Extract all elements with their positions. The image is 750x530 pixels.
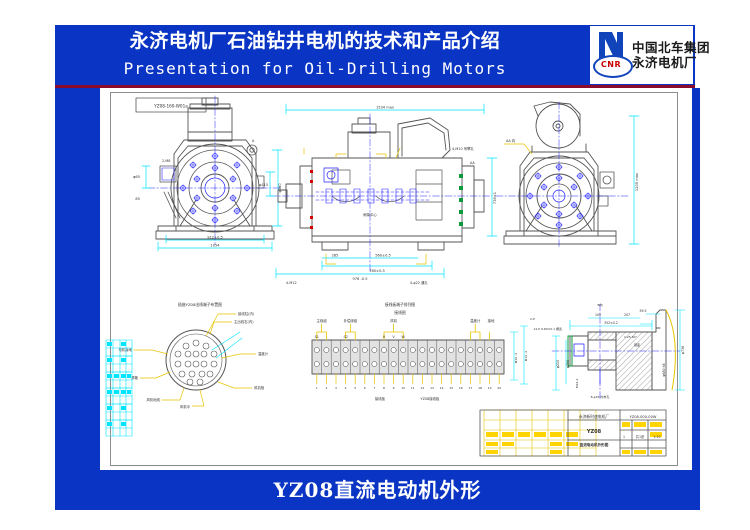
company-logo: CNR 中国北车集团 永济电机厂 xyxy=(590,26,693,84)
svg-text:285: 285 xyxy=(332,254,339,258)
svg-text:插座YZ08出线端子布置图: 插座YZ08出线端子布置图 xyxy=(178,302,222,307)
presentation-slide: 永济电机厂石油钻井电机的技术和产品介绍 Presentation for Oil… xyxy=(0,0,750,530)
svg-text:352±0.2: 352±0.2 xyxy=(604,321,618,325)
svg-text:13: 13 xyxy=(430,386,434,390)
svg-text:4: 4 xyxy=(345,386,347,390)
slide-footer-title: YZ08直流电动机外形 xyxy=(55,472,700,508)
view-connector-pinout: 插座YZ08出线端子布置图 xyxy=(118,302,268,409)
svg-text:1:10: 1:10 xyxy=(653,435,660,439)
view-terminal-block: 接线板端子排列图 接线图 xyxy=(312,302,535,401)
svg-text:2-P: 2-P xyxy=(530,317,535,321)
svg-text:780±0.5: 780±0.5 xyxy=(369,269,385,273)
svg-text:接线板端子排列图: 接线板端子排列图 xyxy=(385,302,416,307)
svg-text:φ736: φ736 xyxy=(681,346,685,354)
svg-text:接地: 接地 xyxy=(488,318,495,323)
svg-text:85: 85 xyxy=(135,197,140,201)
left-blue-rail xyxy=(55,88,100,470)
connector-pins xyxy=(175,340,217,385)
terminal-box-left-view xyxy=(188,98,232,141)
svg-text:1054: 1054 xyxy=(210,244,220,248)
cad-drawing-svg: YZ08-160-W01a xyxy=(100,88,692,470)
svg-text:U: U xyxy=(383,335,386,339)
logo-line-factory: 永济电机厂 xyxy=(632,55,710,70)
svg-text:17: 17 xyxy=(468,386,472,390)
svg-text:钢座: 钢座 xyxy=(634,342,640,347)
svg-text:59.5: 59.5 xyxy=(639,309,646,313)
svg-text:16: 16 xyxy=(459,386,463,390)
svg-text:YZ08-160-W01a: YZ08-160-W01a xyxy=(153,104,188,109)
header-title-english: Presentation for Oil-Drilling Motors xyxy=(60,56,570,82)
svg-text:1205 max: 1205 max xyxy=(635,172,639,191)
svg-text:976 -0.5: 976 -0.5 xyxy=(352,277,367,281)
svg-text:S2: S2 xyxy=(343,335,347,339)
svg-text:YZ08接线板: YZ08接线板 xyxy=(421,396,440,401)
view-left-elevation: 1054 912±0.5 φ680 φ65 85 2-M8 A xyxy=(133,96,282,251)
svg-text:1: 1 xyxy=(316,386,318,390)
svg-text:YZ08-000-00W: YZ08-000-00W xyxy=(630,415,657,419)
svg-text:1:25 60°: 1:25 60° xyxy=(624,335,638,339)
svg-text:7: 7 xyxy=(373,386,375,390)
svg-text:M20 -4: M20 -4 xyxy=(514,353,518,363)
drawing-title-block: 永济新时速电机厂 YZ08-000-00W YZ08 直流电动机外形图 1 共1… xyxy=(480,410,666,456)
svg-text:共1张: 共1张 xyxy=(636,434,645,439)
header-title-chinese: 永济电机厂石油钻井电机的技术和产品介绍 xyxy=(60,28,570,55)
svg-text:10: 10 xyxy=(401,386,405,390)
svg-text:温度计: 温度计 xyxy=(258,351,269,356)
logo-line-group: 中国北车集团 xyxy=(632,40,710,55)
svg-text:φ215: φ215 xyxy=(556,360,560,368)
svg-text:12-P 6.80±0.1 槽宽: 12-P 6.80±0.1 槽宽 xyxy=(533,326,562,331)
svg-text:4-φ22 通孔: 4-φ22 通孔 xyxy=(410,280,428,285)
svg-text:屏蔽: 屏蔽 xyxy=(131,375,138,380)
svg-text:M24-2: M24-2 xyxy=(575,379,579,388)
svg-text:736±1: 736±1 xyxy=(493,192,497,204)
svg-text:4-M12: 4-M12 xyxy=(286,281,297,285)
svg-text:14: 14 xyxy=(440,386,444,390)
svg-text:φ680: φ680 xyxy=(278,183,282,193)
svg-text:V: V xyxy=(392,335,395,339)
svg-text:8: 8 xyxy=(383,386,385,390)
svg-text:19: 19 xyxy=(488,386,492,390)
svg-text:100: 100 xyxy=(595,313,601,317)
svg-text:9: 9 xyxy=(393,386,395,390)
svg-text:3: 3 xyxy=(335,386,337,390)
svg-text:8-φ18 均布孔: 8-φ18 均布孔 xyxy=(591,394,610,399)
svg-text:YZ08: YZ08 xyxy=(586,429,602,435)
svg-text:风机相: 风机相 xyxy=(254,385,265,390)
svg-text:1: 1 xyxy=(623,435,625,439)
svg-text:直流电动机外形图: 直流电动机外形图 xyxy=(580,442,609,447)
svg-text:15: 15 xyxy=(449,386,453,390)
svg-text:4-M10 吊攀孔: 4-M10 吊攀孔 xyxy=(452,146,474,151)
svg-text:207: 207 xyxy=(624,313,630,317)
svg-text:M16 -4: M16 -4 xyxy=(524,351,528,361)
svg-text:2-M8: 2-M8 xyxy=(162,159,170,163)
logo-text-block: 中国北车集团 永济电机厂 xyxy=(630,40,710,70)
svg-text:2: 2 xyxy=(325,386,327,390)
cad-drawing-area: YZ08-160-W01a xyxy=(100,88,692,470)
svg-text:B向: B向 xyxy=(597,302,602,307)
svg-text:温度计: 温度计 xyxy=(470,318,481,323)
svg-text:接线柱(内): 接线柱(内) xyxy=(238,311,255,316)
svg-text:风机中: 风机中 xyxy=(180,404,191,409)
svg-text:主绕组: 主绕组 xyxy=(317,318,328,323)
svg-text:12: 12 xyxy=(420,386,424,390)
svg-text:18: 18 xyxy=(478,386,482,390)
svg-text:风机地线: 风机地线 xyxy=(146,397,160,402)
svg-text:20: 20 xyxy=(497,386,501,390)
svg-text:永济新时速电机厂: 永济新时速电机厂 xyxy=(579,414,610,419)
svg-text:1534 max: 1534 max xyxy=(376,106,395,110)
svg-text:W: W xyxy=(402,335,406,339)
right-blue-rail xyxy=(692,88,700,470)
cnr-abbr-text: CNR xyxy=(597,58,625,71)
svg-text:补偿绕组: 补偿绕组 xyxy=(344,318,358,323)
svg-text:接线板: 接线板 xyxy=(375,396,386,401)
svg-text:5: 5 xyxy=(354,386,356,390)
terminal-numbers: 12 34 56 78 910 1112 1314 1516 1718 1920 xyxy=(316,386,501,390)
svg-text:接线图: 接线图 xyxy=(394,310,406,315)
view-front-elevation: 1534 max 976 -0.5 780±0.5 285 560±0.5 4-… xyxy=(259,104,497,285)
svg-text:刷架中心: 刷架中心 xyxy=(363,212,377,217)
svg-text:φ680 h8: φ680 h8 xyxy=(662,363,666,376)
view-shaft-section: 352±0.2 100 207 59.5 φ215 φ200 φ736 φ680… xyxy=(533,302,685,400)
drawing-label-box: YZ08-160-W01a xyxy=(136,98,206,112)
svg-text:φ200: φ200 xyxy=(566,360,570,368)
svg-text:11: 11 xyxy=(411,386,415,390)
svg-text:560±0.5: 560±0.5 xyxy=(375,254,391,258)
cnr-logo-icon: CNR xyxy=(592,30,630,80)
svg-text:6: 6 xyxy=(364,386,366,390)
svg-text:AA: AA xyxy=(470,161,475,165)
svg-text:AA 向: AA 向 xyxy=(506,138,516,143)
svg-text:A: A xyxy=(252,139,255,143)
svg-text:主出线右(内): 主出线右(内) xyxy=(234,319,254,324)
svg-text:φ65: φ65 xyxy=(133,175,140,179)
svg-text:912±0.5: 912±0.5 xyxy=(207,236,223,240)
svg-text:φ115: φ115 xyxy=(259,183,268,187)
svg-text:风机: 风机 xyxy=(390,318,397,323)
revision-table xyxy=(106,340,132,436)
view-right-elevation: 1205 max AA 向 xyxy=(496,102,639,248)
svg-text:S1: S1 xyxy=(315,335,319,339)
